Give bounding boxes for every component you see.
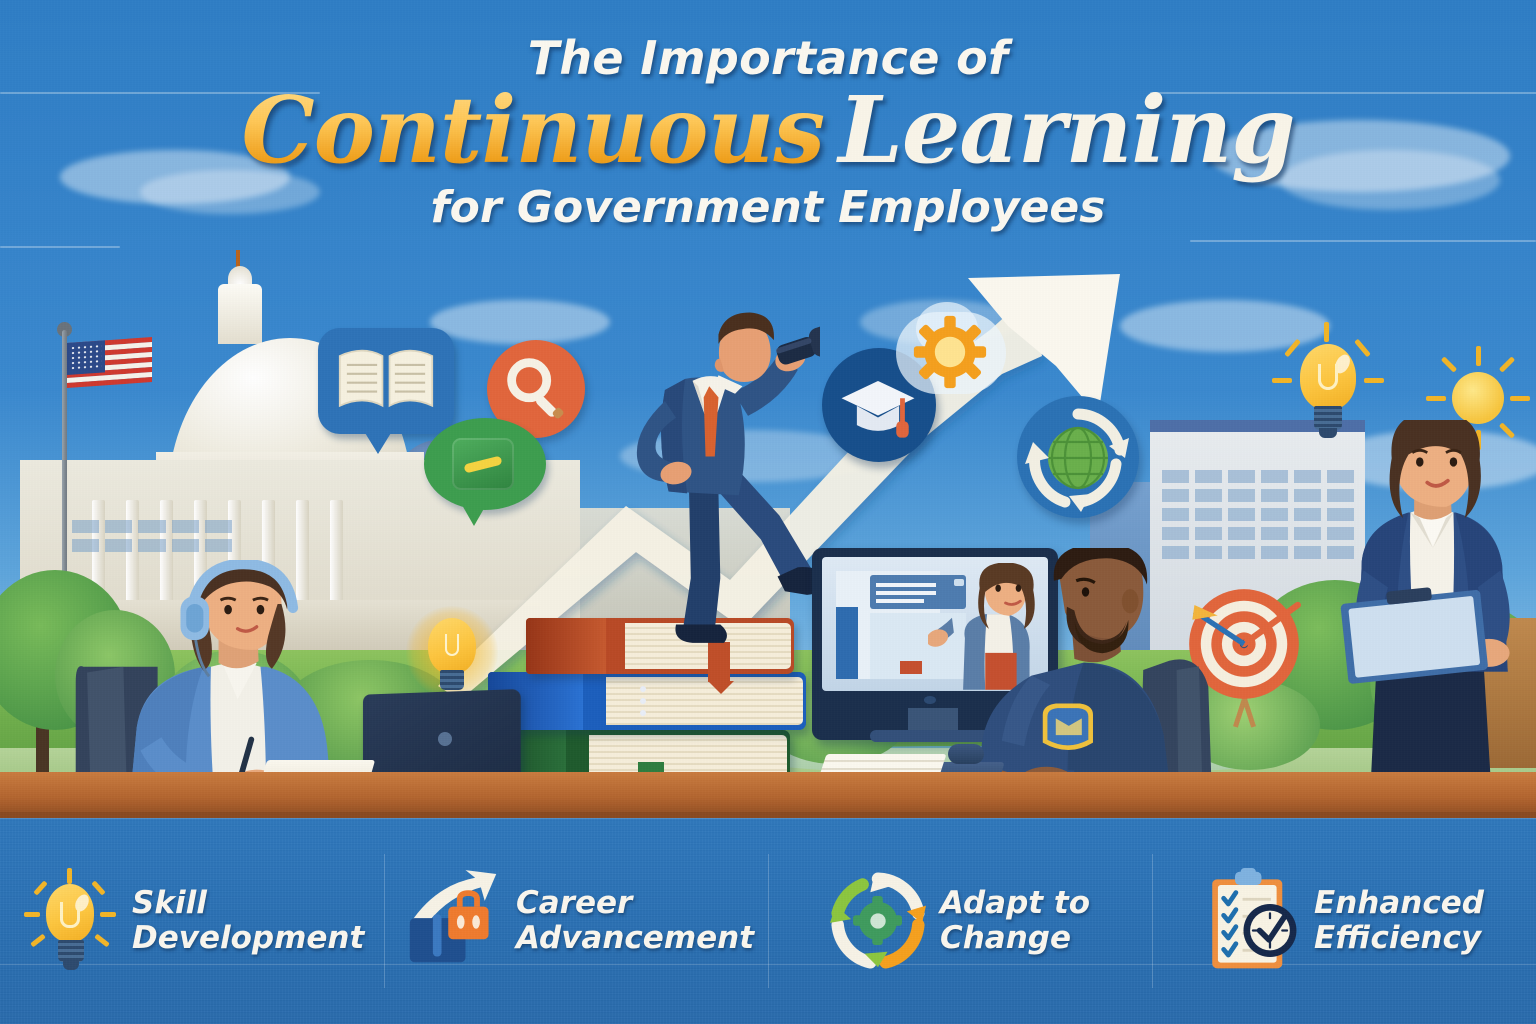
footer-label-career-advancement: Career Advancement <box>516 886 746 955</box>
mouse[interactable] <box>948 744 984 764</box>
book-blue <box>488 672 806 730</box>
footer-label-adapt-to-change: Adapt to Change <box>940 886 1090 955</box>
note-pencil-bubble-icon <box>424 418 546 510</box>
footer-item-enhanced-efficiency[interactable]: Enhanced Efficiency <box>1152 848 1536 994</box>
gear-cycle-icon <box>830 868 926 974</box>
lightbulb-icon <box>22 868 118 974</box>
footer-benefits-bar: Skill Development <box>0 818 1536 1024</box>
globe-cycle-icon <box>1017 396 1139 518</box>
person-supervisor-clipboard <box>1300 420 1536 824</box>
poster-title: The Importance of ContinuousLearning for… <box>0 34 1536 233</box>
footer-label-enhanced-efficiency: Enhanced Efficiency <box>1314 886 1484 955</box>
infographic-poster: The Importance of ContinuousLearning for… <box>0 0 1536 1024</box>
footer-item-career-advancement[interactable]: Career Advancement <box>384 848 768 994</box>
briefcase-growth-icon <box>406 868 502 974</box>
title-line-3: for Government Employees <box>0 182 1536 233</box>
clipboard-clock-icon <box>1204 868 1300 974</box>
title-word-continuous: Continuous <box>241 76 824 184</box>
footer-label-skill-development: Skill Development <box>132 886 362 955</box>
title-word-learning: Learning <box>838 76 1294 184</box>
footer-item-skill-development[interactable]: Skill Development <box>0 848 384 994</box>
title-line-2: ContinuousLearning <box>0 84 1536 176</box>
gear-icon <box>896 302 1006 406</box>
person-telescope-on-books <box>580 300 820 672</box>
footer-item-adapt-to-change[interactable]: Adapt to Change <box>768 848 1152 994</box>
